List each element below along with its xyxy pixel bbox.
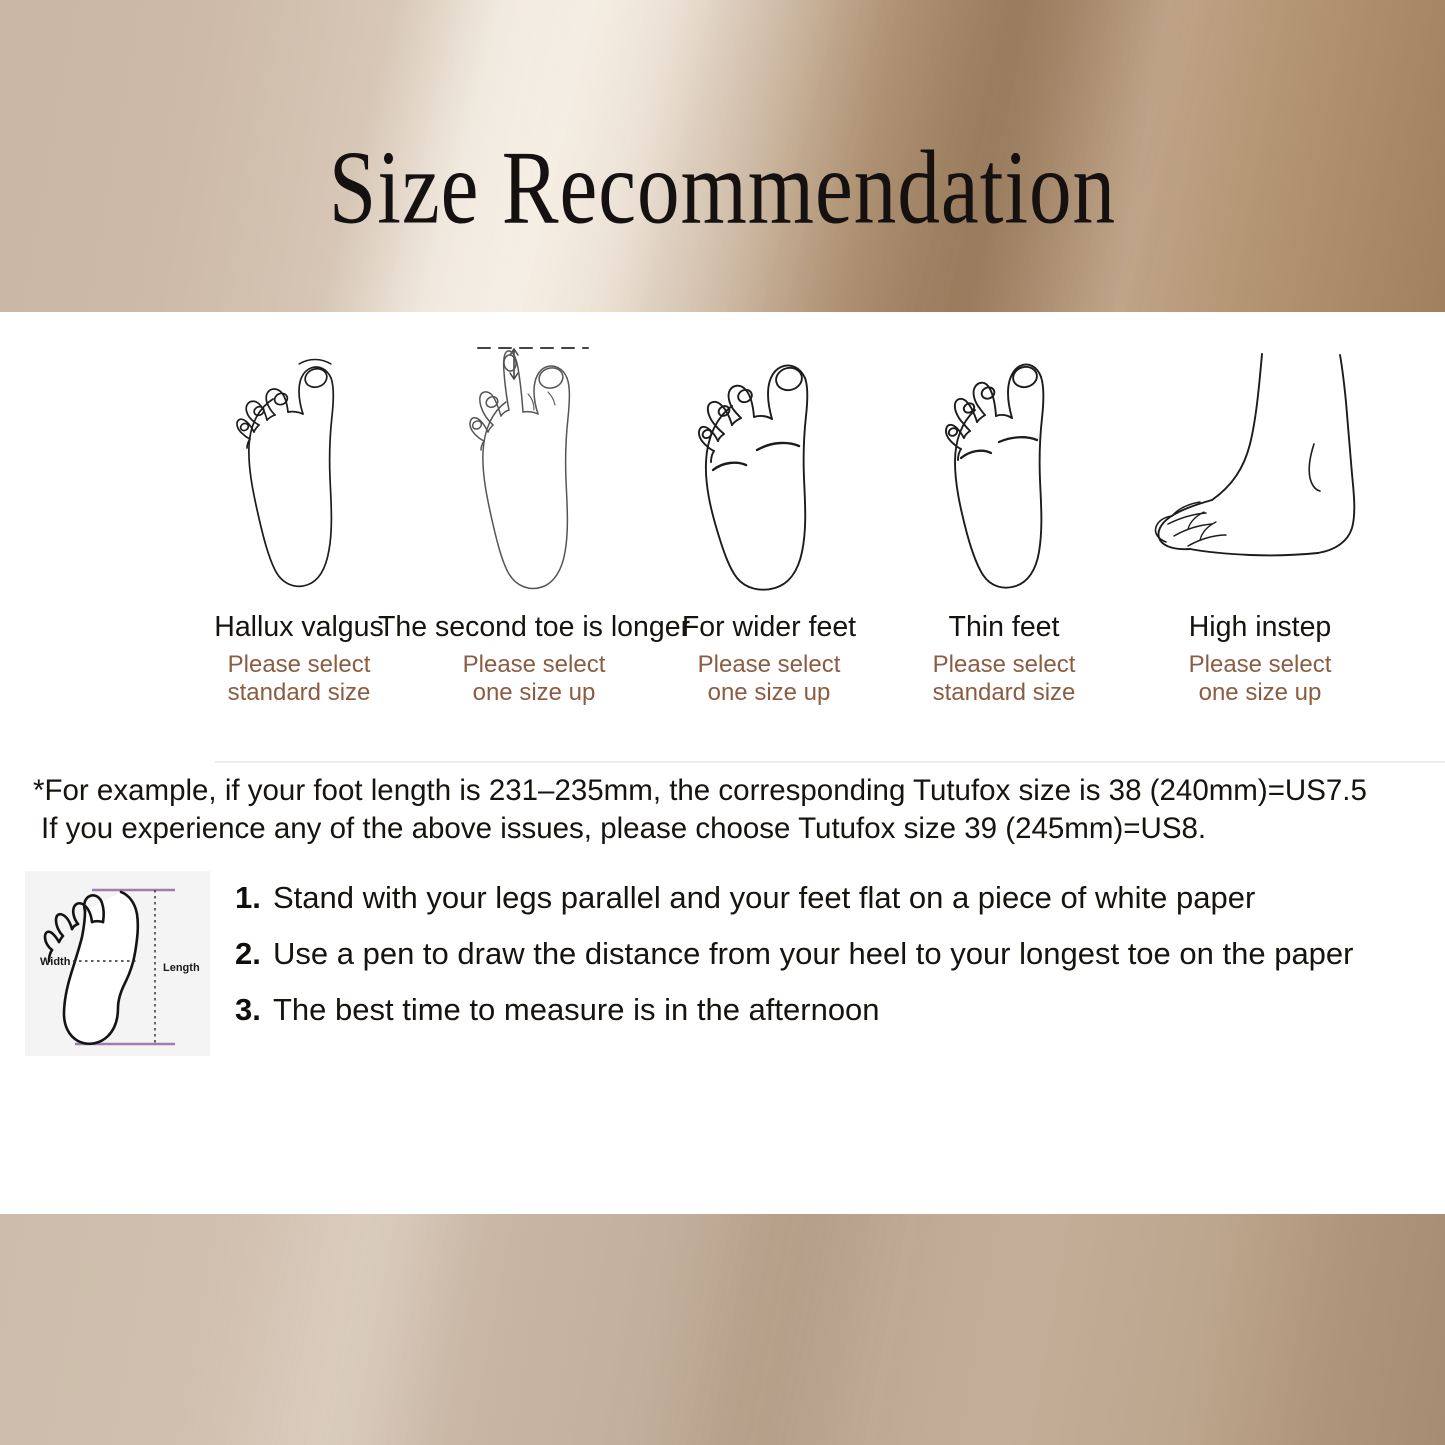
advice-line-1: Please select xyxy=(1189,651,1332,679)
step-text: Stand with your legs parallel and your f… xyxy=(273,879,1255,916)
footprint-second-toe-longer-icon xyxy=(430,340,638,592)
foot-type-card-wider-feet: For wider feet Please select one size up xyxy=(665,340,873,708)
advice-line-1: Please select xyxy=(463,651,606,679)
foot-type-title: For wider feet xyxy=(682,612,856,643)
section-divider xyxy=(215,761,1445,763)
advice-line-1: Please select xyxy=(228,651,371,679)
foot-type-title: High instep xyxy=(1189,612,1332,643)
advice-line-2: one size up xyxy=(698,679,841,707)
measure-length-label: Length xyxy=(163,962,200,974)
foot-type-card-thin-feet: Thin feet Please select standard size xyxy=(900,340,1108,708)
step-number: 1. xyxy=(235,880,273,916)
footprint-wide-icon xyxy=(665,340,873,592)
advice-line-2: standard size xyxy=(228,679,371,707)
step-text: Use a pen to draw the distance from your… xyxy=(273,935,1354,972)
example-note: *For example, if your foot length is 231… xyxy=(33,772,1423,848)
step-text: The best time to measure is in the after… xyxy=(273,991,880,1028)
foot-type-advice: Please select standard size xyxy=(228,651,371,707)
footer-light-streak xyxy=(183,1214,511,1445)
foot-type-title: The second toe is longer xyxy=(378,612,690,643)
step-number: 3. xyxy=(235,992,273,1028)
foot-type-row: Hallux valgus Please select standard siz… xyxy=(195,340,1385,730)
step-number: 2. xyxy=(235,936,273,972)
foot-type-title: Hallux valgus xyxy=(214,612,384,643)
foot-type-card-high-instep: High instep Please select one size up xyxy=(1135,340,1385,708)
advice-line-1: Please select xyxy=(698,651,841,679)
page-title: Size Recommendation xyxy=(7,132,1438,242)
footer-shadow-streak xyxy=(616,1214,916,1445)
step-item: 1. Stand with your legs parallel and you… xyxy=(235,879,1425,916)
measure-width-label: Width xyxy=(40,956,71,968)
measure-instructions: Width Length 1. Stand with your legs par… xyxy=(25,871,1425,1056)
size-recommendation-page: Size Recommendation xyxy=(0,0,1445,1445)
advice-line-2: one size up xyxy=(463,679,606,707)
foot-type-card-second-toe-longer: The second toe is longer Please select o… xyxy=(430,340,638,708)
step-item: 2. Use a pen to draw the distance from y… xyxy=(235,935,1425,972)
footprint-hallux-valgus-icon xyxy=(195,340,403,592)
footprint-thin-icon xyxy=(900,340,1108,592)
example-note-line-2: If you experience any of the above issue… xyxy=(33,810,1423,848)
steps-list: 1. Stand with your legs parallel and you… xyxy=(235,871,1425,1029)
foot-measure-diagram: Width Length xyxy=(25,871,210,1056)
advice-line-2: one size up xyxy=(1189,679,1332,707)
foot-type-advice: Please select standard size xyxy=(933,651,1076,707)
step-item: 3. The best time to measure is in the af… xyxy=(235,991,1425,1028)
foot-type-card-hallux-valgus: Hallux valgus Please select standard siz… xyxy=(195,340,403,708)
foot-type-advice: Please select one size up xyxy=(1189,651,1332,707)
footer-band xyxy=(0,1214,1445,1445)
advice-line-1: Please select xyxy=(933,651,1076,679)
foot-type-title: Thin feet xyxy=(949,612,1060,643)
advice-line-2: standard size xyxy=(933,679,1076,707)
foot-profile-high-instep-icon xyxy=(1135,340,1385,592)
example-note-line-1: *For example, if your foot length is 231… xyxy=(33,772,1423,810)
foot-type-advice: Please select one size up xyxy=(698,651,841,707)
foot-type-advice: Please select one size up xyxy=(463,651,606,707)
